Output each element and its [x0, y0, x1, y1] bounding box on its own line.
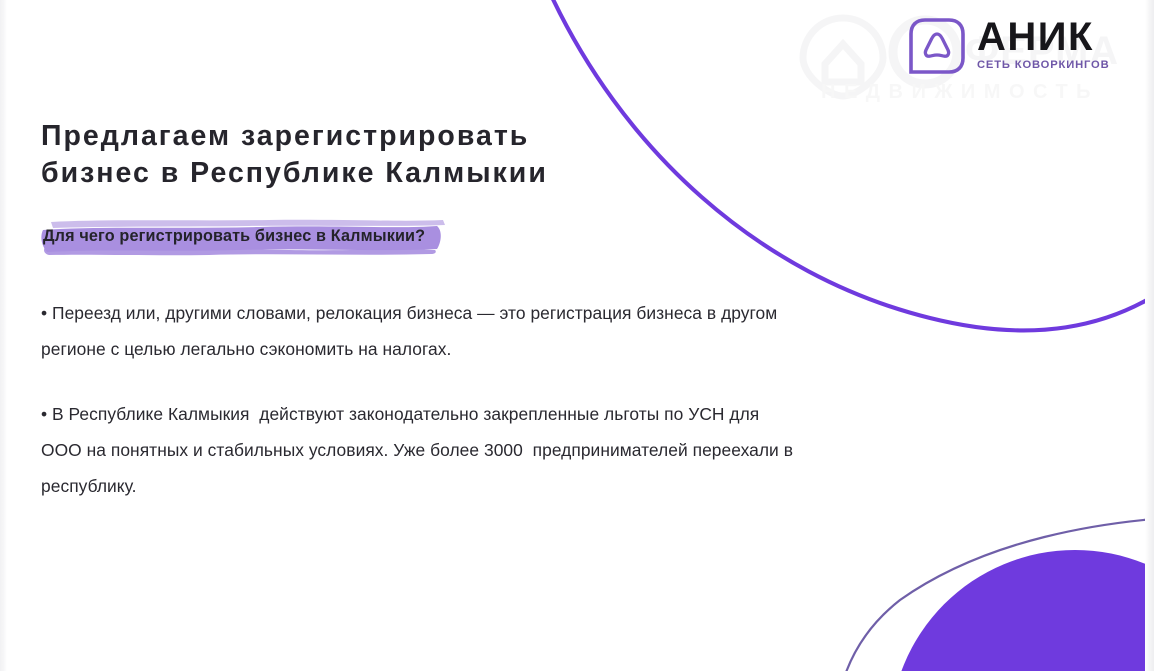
- paragraph-2: • В Республике Калмыкия действуют законо…: [41, 396, 801, 504]
- brand-logo: АНИК СЕТЬ КОВОРКИНГОВ: [908, 16, 1130, 82]
- page-title: Предлагаем зарегистрировать бизнес в Рес…: [41, 118, 601, 192]
- purple-thin-arc-outline: [844, 516, 1154, 671]
- slide-content: Предлагаем зарегистрировать бизнес в Рес…: [41, 118, 831, 521]
- purple-filled-circle: [890, 550, 1154, 671]
- logo-outer-shape: [911, 20, 963, 72]
- brand-tagline: СЕТЬ КОВОРКИНГОВ: [977, 59, 1110, 71]
- map-pin-house-icon: [803, 18, 883, 96]
- slide-canvas: ФЕРМА НЕДВИЖИМОСТЬ АНИК СЕТЬ КОВОРКИНГОВ…: [0, 0, 1154, 671]
- brand-text-group: АНИК СЕТЬ КОВОРКИНГОВ: [977, 16, 1110, 71]
- subheading-block: Для чего регистрировать бизнес в Калмыки…: [41, 221, 831, 259]
- paragraph-1: • Переезд или, другими словами, релокаци…: [41, 295, 801, 367]
- page-edge-left: [0, 0, 7, 671]
- page-edge-right: [1145, 0, 1154, 671]
- anik-logo-icon: [908, 17, 966, 75]
- brand-name: АНИК: [977, 18, 1110, 57]
- subheading: Для чего регистрировать бизнес в Калмыки…: [41, 221, 831, 251]
- house-glyph-icon: [825, 44, 861, 82]
- watermark-text: НЕДВИЖИМОСТЬ: [821, 81, 1099, 103]
- logo-inner-a-icon: [925, 34, 948, 56]
- body-text-block: • Переезд или, другими словами, релокаци…: [41, 295, 831, 504]
